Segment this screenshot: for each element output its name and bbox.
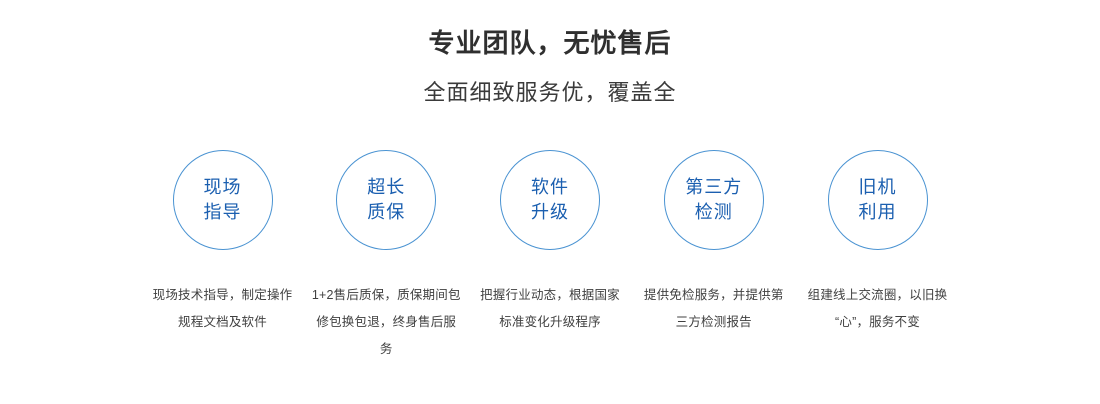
feature-circle-label-line2: 利用	[859, 200, 897, 225]
feature-circle-label-line2: 质保	[367, 200, 405, 225]
feature-item-software-upgrade[interactable]: 软件 升级 把握行业动态，根据国家标准变化升级程序	[483, 150, 618, 336]
feature-list: 现场 指导 现场技术指导，制定操作规程文档及软件 超长 质保 1+2售后质保，质…	[155, 150, 945, 363]
feature-circle-label-line2: 指导	[204, 200, 242, 225]
feature-circle-label-line2: 检测	[695, 200, 733, 225]
feature-description: 1+2售后质保，质保期间包修包换包退，终身售后服务	[311, 282, 461, 363]
feature-item-third-party-inspection[interactable]: 第三方 检测 提供免检服务，并提供第三方检测报告	[646, 150, 781, 336]
feature-description: 把握行业动态，根据国家标准变化升级程序	[475, 282, 625, 336]
feature-circle[interactable]: 第三方 检测	[664, 150, 764, 250]
feature-circle-label-line1: 现场	[204, 175, 242, 200]
feature-circle[interactable]: 现场 指导	[173, 150, 273, 250]
feature-circle[interactable]: 超长 质保	[336, 150, 436, 250]
feature-circle-label-line1: 第三方	[685, 175, 742, 200]
heading-block: 专业团队，无忧售后 全面细致服务优，覆盖全	[0, 0, 1100, 108]
page-title: 专业团队，无忧售后	[0, 26, 1100, 60]
feature-circle-label-line1: 软件	[531, 175, 569, 200]
feature-circle-label-line1: 旧机	[859, 175, 897, 200]
feature-circle[interactable]: 软件 升级	[500, 150, 600, 250]
service-promise-section: 专业团队，无忧售后 全面细致服务优，覆盖全 现场 指导 现场技术指导，制定操作规…	[0, 0, 1100, 404]
feature-description: 组建线上交流圈，以旧换“心”，服务不变	[803, 282, 953, 336]
page-subtitle: 全面细致服务优，覆盖全	[0, 78, 1100, 108]
feature-item-old-machine-reuse[interactable]: 旧机 利用 组建线上交流圈，以旧换“心”，服务不变	[810, 150, 945, 336]
feature-circle-label-line1: 超长	[367, 175, 405, 200]
feature-description: 提供免检服务，并提供第三方检测报告	[639, 282, 789, 336]
feature-description: 现场技术指导，制定操作规程文档及软件	[148, 282, 298, 336]
feature-item-onsite-guidance[interactable]: 现场 指导 现场技术指导，制定操作规程文档及软件	[155, 150, 290, 336]
feature-item-extended-warranty[interactable]: 超长 质保 1+2售后质保，质保期间包修包换包退，终身售后服务	[319, 150, 454, 363]
feature-circle[interactable]: 旧机 利用	[828, 150, 928, 250]
feature-circle-label-line2: 升级	[531, 200, 569, 225]
